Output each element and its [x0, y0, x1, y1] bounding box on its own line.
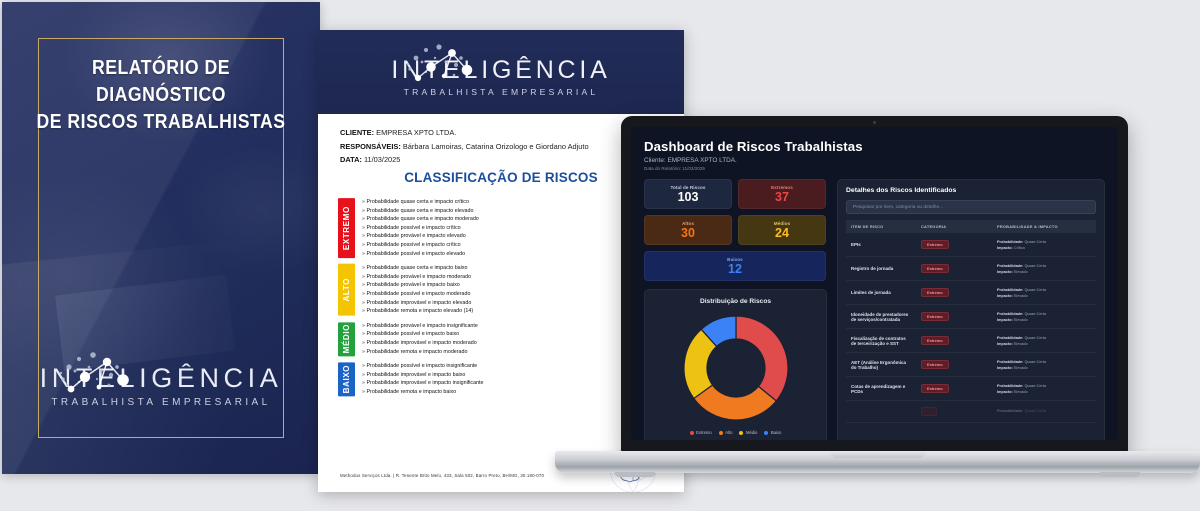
- inteligencia-logo: INTELIGÊNCIA TRABALHISTA EMPRESARIAL: [40, 363, 283, 408]
- cell-categoria: Extremo: [916, 305, 992, 329]
- laptop-mockup: Dashboard de Riscos Trabalhistas Cliente…: [555, 116, 1200, 496]
- kpi-value: 30: [681, 226, 695, 240]
- table-row[interactable]: Idoneidade de prestadores de serviços/co…: [846, 305, 1096, 329]
- kpi-card[interactable]: Altos30: [644, 215, 732, 245]
- distribution-chart-card: Distribuição de Riscos ExtremoAltoMédioB…: [644, 289, 827, 440]
- risk-class-item: Probabilidade improvável e impacto baixo: [362, 371, 484, 380]
- risk-class-tag: BAIXO: [338, 362, 355, 396]
- cover-logo: INTELIGÊNCIA TRABALHISTA EMPRESARIAL: [2, 363, 320, 410]
- dashboard-body: Total de Riscos103Extremos37Altos30Médio…: [644, 179, 1105, 440]
- laptop-foot-right: [1100, 472, 1140, 477]
- risk-class-row: BAIXOProbabilidade possível e impacto in…: [338, 362, 553, 396]
- page-title: Dashboard de Riscos Trabalhistas: [644, 139, 1105, 154]
- dashboard-client: Cliente: EMPRESA XPTO LTDA.: [644, 157, 1105, 164]
- impacto-value: Elevado: [1014, 270, 1028, 274]
- kpi-card[interactable]: Total de Riscos103: [644, 179, 732, 209]
- meta-client-row: CLIENTE: EMPRESA XPTO LTDA.: [340, 126, 589, 140]
- risk-class-item: Probabilidade provável e impacto moderad…: [362, 273, 473, 282]
- risk-table-body: EPIsExtremoProbabilidade: Quase CertaImp…: [846, 233, 1096, 422]
- table-row[interactable]: Registro de jornadaExtremoProbabilidade:…: [846, 257, 1096, 281]
- probabilidade-value: Quase Certa: [1024, 312, 1046, 316]
- impacto-value: Crítico: [1014, 246, 1025, 250]
- risk-class-item: Probabilidade provável e impacto insigni…: [362, 322, 478, 331]
- chart-title: Distribuição de Riscos: [700, 298, 771, 305]
- kpi-value: 103: [678, 190, 699, 204]
- cover-title-line-2: DE RISCOS TRABALHISTAS: [24, 108, 297, 135]
- legend-color-dot: [739, 431, 743, 435]
- search-input[interactable]: Pesquisar por item, categoria ou detalhe…: [846, 200, 1096, 214]
- probabilidade-value: Quase Certa: [1024, 264, 1046, 268]
- laptop-lid: Dashboard de Riscos Trabalhistas Cliente…: [621, 116, 1128, 453]
- cell-probabilidade-impacto: Probabilidade: Quase CertaImpacto: Eleva…: [992, 329, 1096, 353]
- risk-class-row: EXTREMOProbabilidade quase certa e impac…: [338, 198, 553, 258]
- risk-class-item: Probabilidade improvável e impacto eleva…: [362, 299, 473, 308]
- donut-slice[interactable]: [736, 316, 788, 401]
- table-header-row: ITEM DE RISCO CATEGORIA PROBABILIDADE & …: [846, 220, 1096, 233]
- meta-date-row: DATA: 11/03/2025: [340, 153, 589, 167]
- document-metadata: CLIENTE: EMPRESA XPTO LTDA. RESPONSÁVEIS…: [340, 126, 589, 167]
- col-header-prob-impacto[interactable]: PROBABILIDADE & IMPACTO: [992, 220, 1096, 233]
- network-nodes-icon: [49, 349, 274, 399]
- meta-responsible-row: RESPONSÁVEIS: Bárbara Lamoiras, Catarina…: [340, 140, 589, 154]
- legend-color-dot: [719, 431, 723, 435]
- report-cover-page: RELATÓRIO DE DIAGNÓSTICO DE RISCOS TRABA…: [2, 2, 320, 474]
- cell-probabilidade-impacto: Probabilidade: Quase CertaImpacto: Eleva…: [992, 257, 1096, 281]
- cell-item-risco: Idoneidade de prestadores de serviços/co…: [846, 305, 916, 329]
- cell-categoria: Extremo: [916, 329, 992, 353]
- probabilidade-value: Quase Certa: [1024, 384, 1046, 388]
- risk-class-item: Probabilidade possível e impacto moderad…: [362, 290, 473, 299]
- legend-color-dot: [690, 431, 694, 435]
- table-title: Detalhes dos Riscos Identificados: [846, 187, 1096, 194]
- cell-probabilidade-impacto: Probabilidade: Quase CertaImpacto: Eleva…: [992, 377, 1096, 401]
- risk-class-item: Probabilidade possível e impacto crítico: [362, 224, 479, 233]
- cell-probabilidade-impacto: Probabilidade: Quase CertaImpacto: Eleva…: [992, 281, 1096, 305]
- legend-label: Extremo: [696, 430, 712, 435]
- risk-distribution-donut-chart[interactable]: [677, 309, 795, 427]
- risk-class-items: Probabilidade quase certa e impacto crít…: [355, 198, 479, 258]
- cell-categoria: Extremo: [916, 281, 992, 305]
- risk-class-item: Probabilidade provável e impacto elevado: [362, 232, 479, 241]
- cell-probabilidade-impacto: Probabilidade: Quase CertaImpacto: Críti…: [992, 233, 1096, 257]
- legend-label: Médio: [746, 430, 757, 435]
- kpi-card[interactable]: Baixos12: [644, 251, 826, 281]
- meta-client-value: EMPRESA XPTO LTDA.: [376, 128, 456, 137]
- table-row[interactable]: Cotas de aprendizagem e PCDsExtremoProba…: [846, 377, 1096, 401]
- kpi-card-grid: Total de Riscos103Extremos37Altos30Médio…: [644, 179, 827, 281]
- status-badge: Extremo: [921, 312, 949, 322]
- risk-class-items: Probabilidade possível e impacto insigni…: [355, 362, 484, 396]
- impacto-value: Elevado: [1014, 294, 1028, 298]
- status-badge: Extremo: [921, 264, 949, 274]
- status-badge: —: [921, 407, 937, 417]
- cell-probabilidade-impacto: Probabilidade: Quase CertaImpacto: Eleva…: [992, 353, 1096, 377]
- impacto-line: Impacto: Elevado: [997, 317, 1091, 323]
- risk-class-item: Probabilidade remota e impacto moderado: [362, 348, 478, 357]
- laptop-foot-left: [615, 472, 655, 477]
- document-logo: INTELIGÊNCIA TRABALHISTA EMPRESARIAL: [391, 56, 610, 97]
- legend-label: Baixo: [771, 430, 781, 435]
- risk-table: ITEM DE RISCO CATEGORIA PROBABILIDADE & …: [846, 220, 1096, 423]
- risk-class-row: ALTOProbabilidade quase certa e impacto …: [338, 264, 553, 316]
- legend-label: Alto: [725, 430, 732, 435]
- cell-categoria: Extremo: [916, 377, 992, 401]
- cell-categoria: Extremo: [916, 353, 992, 377]
- legend-color-dot: [764, 431, 768, 435]
- document-footer: Methodus Serviços Ltda. | R. Tenente Bri…: [340, 473, 544, 478]
- probabilidade-value: Quase Certa: [1024, 336, 1046, 340]
- impacto-line: Impacto: Crítico: [997, 245, 1091, 251]
- cell-categoria: Extremo: [916, 233, 992, 257]
- table-row[interactable]: Fiscalização de contratos de terceirizaç…: [846, 329, 1096, 353]
- impacto-line: Impacto: Elevado: [997, 293, 1091, 299]
- risk-details-panel: Detalhes dos Riscos Identificados Pesqui…: [837, 179, 1105, 440]
- probabilidade-line: Probabilidade: Quase Certa: [997, 408, 1091, 414]
- table-row[interactable]: —Probabilidade: Quase Certa: [846, 401, 1096, 423]
- cell-item-risco: EPIs: [846, 233, 916, 257]
- risk-class-item: Probabilidade possível e impacto baixo: [362, 330, 478, 339]
- legend-item[interactable]: Alto: [719, 430, 733, 435]
- risk-class-item: Probabilidade quase certa e impacto elev…: [362, 207, 479, 216]
- laptop-screen: Dashboard de Riscos Trabalhistas Cliente…: [631, 127, 1118, 440]
- impacto-line: Impacto: Elevado: [997, 341, 1091, 347]
- meta-client-label: CLIENTE:: [340, 128, 374, 137]
- impacto-line: Impacto: Elevado: [997, 365, 1091, 371]
- col-header-categoria[interactable]: CATEGORIA: [916, 220, 992, 233]
- logo-subline: TRABALHISTA EMPRESARIAL: [391, 87, 610, 97]
- laptop-base-notch: [830, 451, 926, 458]
- webcam-icon: [873, 121, 876, 124]
- impacto-value: Elevado: [1014, 318, 1028, 322]
- chart-legend: ExtremoAltoMédioBaixo: [690, 430, 782, 435]
- meta-date-value: 11/03/2025: [364, 155, 400, 164]
- cell-probabilidade-impacto: Probabilidade: Quase Certa: [992, 401, 1096, 423]
- cell-item-risco: AET (Análise Ergonômica do Trabalho): [846, 353, 916, 377]
- risk-class-item: Probabilidade quase certa e impacto mode…: [362, 215, 479, 224]
- risk-class-item: Probabilidade possível e impacto crítico: [362, 241, 479, 250]
- cell-item-risco: Limites de jornada: [846, 281, 916, 305]
- impacto-value: Elevado: [1014, 366, 1028, 370]
- impacto-value: Elevado: [1014, 342, 1028, 346]
- risk-class-row: MÉDIOProbabilidade provável e impacto in…: [338, 322, 553, 356]
- dashboard-left-column: Total de Riscos103Extremos37Altos30Médio…: [644, 179, 827, 440]
- kpi-value: 12: [728, 262, 742, 276]
- kpi-value: 37: [775, 190, 789, 204]
- cell-item-risco: Fiscalização de contratos de terceirizaç…: [846, 329, 916, 353]
- risk-class-item: Probabilidade possível e impacto insigni…: [362, 362, 484, 371]
- impacto-line: Impacto: Elevado: [997, 269, 1091, 275]
- table-row[interactable]: AET (Análise Ergonômica do Trabalho)Extr…: [846, 353, 1096, 377]
- kpi-card[interactable]: Médios24: [738, 215, 826, 245]
- risk-class-items: Probabilidade quase certa e impacto baix…: [355, 264, 473, 316]
- cell-item-risco: Registro de jornada: [846, 257, 916, 281]
- risk-class-item: Probabilidade quase certa e impacto baix…: [362, 264, 473, 273]
- status-badge: Extremo: [921, 240, 949, 250]
- status-badge: Extremo: [921, 360, 949, 370]
- risk-class-item: Probabilidade improvável e impacto moder…: [362, 339, 478, 348]
- network-nodes-icon: [397, 41, 607, 87]
- risk-class-item: Probabilidade possível e impacto elevado: [362, 250, 479, 259]
- risk-class-tag: EXTREMO: [338, 198, 355, 258]
- probabilidade-value: Quase Certa: [1024, 360, 1046, 364]
- kpi-card[interactable]: Extremos37: [738, 179, 826, 209]
- probabilidade-value: Quase Certa: [1024, 409, 1046, 413]
- status-badge: Extremo: [921, 384, 949, 394]
- probabilidade-value: Quase Certa: [1024, 288, 1046, 292]
- table-row[interactable]: EPIsExtremoProbabilidade: Quase CertaImp…: [846, 233, 1096, 257]
- table-row[interactable]: Limites de jornadaExtremoProbabilidade: …: [846, 281, 1096, 305]
- kpi-value: 24: [775, 226, 789, 240]
- impacto-line: Impacto: Elevado: [997, 389, 1091, 395]
- status-badge: Extremo: [921, 288, 949, 298]
- cover-title: RELATÓRIO DE DIAGNÓSTICO DE RISCOS TRABA…: [24, 54, 297, 135]
- col-header-item[interactable]: ITEM DE RISCO: [846, 220, 916, 233]
- legend-item[interactable]: Baixo: [764, 430, 781, 435]
- risk-class-tag: ALTO: [338, 264, 355, 316]
- status-badge: Extremo: [921, 336, 949, 346]
- search-placeholder-text: Pesquisar por item, categoria ou detalhe…: [853, 205, 943, 210]
- cell-categoria: Extremo: [916, 257, 992, 281]
- dashboard-report-date: Data do Relatório: 11/03/2025: [644, 166, 1105, 171]
- cell-item-risco: Cotas de aprendizagem e PCDs: [846, 377, 916, 401]
- meta-date-label: DATA:: [340, 155, 362, 164]
- risk-classification-list: EXTREMOProbabilidade quase certa e impac…: [338, 198, 553, 402]
- dashboard-app: Dashboard de Riscos Trabalhistas Cliente…: [631, 127, 1118, 440]
- risk-class-items: Probabilidade provável e impacto insigni…: [355, 322, 478, 356]
- cell-categoria: —: [916, 401, 992, 423]
- legend-item[interactable]: Extremo: [690, 430, 712, 435]
- cell-item-risco: [846, 401, 916, 423]
- risk-class-item: Probabilidade improvável e impacto insig…: [362, 379, 484, 388]
- risk-class-item: Probabilidade provável e impacto baixo: [362, 281, 473, 290]
- cover-title-line-1: RELATÓRIO DE DIAGNÓSTICO: [24, 54, 297, 108]
- risk-table-head: ITEM DE RISCO CATEGORIA PROBABILIDADE & …: [846, 220, 1096, 233]
- impacto-value: Elevado: [1014, 390, 1028, 394]
- risk-class-tag: MÉDIO: [338, 322, 355, 356]
- legend-item[interactable]: Médio: [739, 430, 757, 435]
- document-header-band: INTELIGÊNCIA TRABALHISTA EMPRESARIAL: [318, 30, 684, 114]
- meta-responsible-label: RESPONSÁVEIS:: [340, 142, 401, 151]
- risk-class-item: Probabilidade remota e impacto elevado (…: [362, 307, 473, 316]
- risk-class-item: Probabilidade remota e impacto baixo: [362, 388, 484, 397]
- probabilidade-value: Quase Certa: [1024, 240, 1046, 244]
- risk-class-item: Probabilidade quase certa e impacto crít…: [362, 198, 479, 207]
- laptop-base: [555, 451, 1200, 473]
- cell-probabilidade-impacto: Probabilidade: Quase CertaImpacto: Eleva…: [992, 305, 1096, 329]
